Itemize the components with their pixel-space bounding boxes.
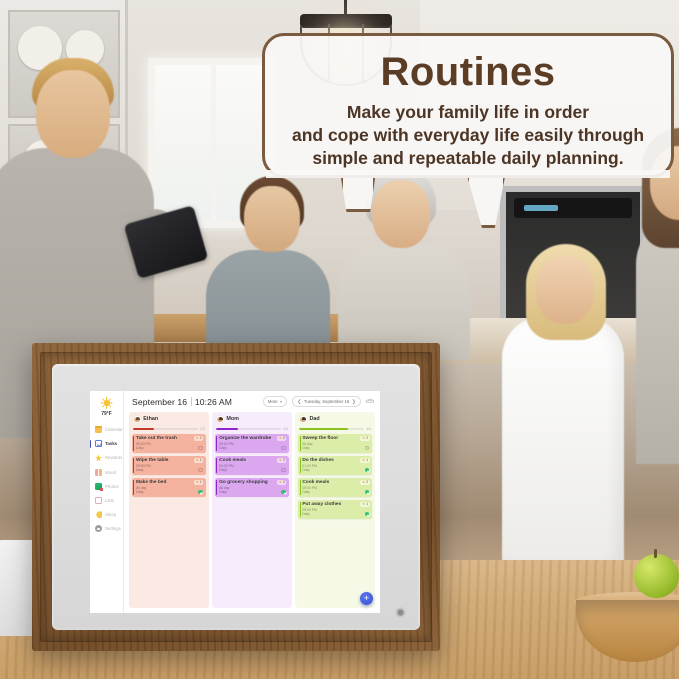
task-time: All day	[219, 486, 286, 490]
task-column-mom: Mom1/3Organize the wardrobe05:00 PMDaily…	[212, 412, 292, 608]
sidebar-item-tasks[interactable]: Tasks	[90, 438, 123, 450]
promo-title: Routines	[265, 50, 671, 95]
person-woman-head	[244, 186, 300, 252]
weather-temperature: 79°F	[90, 411, 123, 417]
task-star-count: 1	[366, 458, 368, 462]
progress-bar	[299, 428, 348, 430]
header-date: September 16	[132, 397, 187, 407]
star-icon: ★	[196, 437, 199, 441]
task-card[interactable]: Take out the trash05:00 PMDaily★1	[132, 434, 206, 453]
person-man-head	[36, 70, 110, 158]
task-time: All day	[302, 442, 369, 446]
more-label: More	[268, 399, 278, 404]
header-divider	[191, 397, 192, 406]
star-icon: ★	[279, 481, 282, 485]
task-checkbox-checked[interactable]	[365, 468, 369, 472]
app-header: September 16 10:26 AM More ❮ Tuesday, Se…	[124, 391, 380, 412]
task-star-badge: ★1	[194, 480, 203, 485]
task-accent-stripe	[300, 436, 301, 451]
star-icon: ★	[196, 459, 199, 463]
task-title: Take out the trash	[136, 436, 203, 441]
task-frequency: Daily	[302, 446, 369, 450]
task-accent-stripe	[216, 458, 217, 473]
column-header: Dad	[298, 416, 372, 424]
column-progress: 3/4	[298, 426, 372, 431]
person-girl-body	[502, 316, 624, 566]
task-title: Make the bed	[136, 480, 203, 485]
header-controls: More ❮ Tuesday, September 16 ❯	[263, 396, 374, 407]
task-star-count: 2	[283, 436, 285, 440]
sidebar-item-calendar[interactable]: Calendar	[90, 424, 123, 436]
task-title: Cook meals	[302, 480, 369, 485]
person-right-woman-body	[636, 214, 679, 464]
sidebar-item-sleep[interactable]: Sleep	[90, 509, 123, 521]
task-time: 05:00 PM	[136, 442, 203, 446]
rewards-star-icon	[95, 454, 102, 461]
star-icon: ★	[362, 459, 365, 463]
sidebar-item-settings[interactable]: Settings	[90, 523, 123, 535]
task-column-dad: Dad3/4Sweep the floorAll dayDaily★2Do th…	[295, 412, 375, 608]
column-member-name: Mom	[226, 416, 239, 422]
progress-track	[133, 428, 198, 430]
mood-icon	[95, 469, 102, 476]
speech-bubble-seam	[266, 170, 670, 178]
star-icon: ★	[279, 459, 282, 463]
task-card[interactable]: Sweep the floorAll dayDaily★2	[298, 434, 372, 453]
chevron-left-icon[interactable]: ❮	[297, 399, 301, 405]
progress-fraction: 1/3	[283, 427, 288, 431]
sidebar-item-label: Tasks	[105, 441, 117, 446]
task-accent-stripe	[300, 480, 301, 495]
task-accent-stripe	[133, 458, 134, 473]
wifi-icon[interactable]	[366, 399, 374, 405]
avatar-dad[interactable]	[299, 416, 307, 424]
task-accent-stripe	[300, 502, 301, 517]
promo-speech-bubble: Routines Make your family life in order …	[262, 33, 674, 178]
chevron-right-icon[interactable]: ❯	[352, 399, 356, 405]
star-icon: ★	[279, 437, 282, 441]
sidebar-item-rewards[interactable]: Rewards	[90, 452, 123, 464]
sidebar-item-label: Calendar	[105, 427, 123, 432]
column-progress: 1/3	[215, 426, 289, 431]
task-star-count: 1	[200, 480, 202, 484]
task-frequency: Daily	[302, 468, 369, 472]
task-star-count: 2	[283, 458, 285, 462]
selected-date-label: Tuesday, September 16	[304, 399, 349, 404]
task-time: 06:00 PM	[219, 464, 286, 468]
progress-bar	[133, 428, 154, 430]
task-accent-stripe	[133, 436, 134, 451]
sleep-moon-icon	[95, 511, 102, 518]
task-star-badge: ★2	[360, 436, 369, 441]
task-card[interactable]: Cook meals05:00 PMDaily★2	[298, 478, 372, 497]
header-datetime: September 16 10:26 AM	[132, 397, 232, 407]
task-time: 05:00 PM	[136, 464, 203, 468]
task-title: Organize the wardrobe	[219, 436, 286, 441]
tasks-icon	[95, 440, 102, 447]
column-member-name: Dad	[310, 416, 320, 422]
task-time: 01:00 PM	[302, 464, 369, 468]
task-star-count: 2	[366, 436, 368, 440]
more-dropdown[interactable]: More	[263, 396, 287, 406]
sidebar-item-label: Mood	[105, 470, 116, 475]
star-icon: ★	[362, 503, 365, 507]
progress-bar	[216, 428, 237, 430]
device-bezel: 79°F CalendarTasksRewardsMoodPhotosLists…	[52, 364, 420, 630]
date-navigator[interactable]: ❮ Tuesday, September 16 ❯	[292, 396, 361, 407]
promo-subtitle-line-3: simple and repeatable daily planning.	[271, 147, 665, 170]
task-time: 05:00 PM	[302, 486, 369, 490]
task-frequency: Daily	[219, 468, 286, 472]
sun-icon	[101, 397, 113, 409]
star-icon: ★	[362, 481, 365, 485]
column-progress: 1/3	[132, 426, 206, 431]
task-star-badge: ★1	[360, 502, 369, 507]
task-title: Go grocery shopping	[219, 480, 286, 485]
sidebar-item-photos[interactable]: Photos	[90, 480, 123, 492]
promo-subtitle: Make your family life in order and cope …	[265, 101, 671, 170]
task-title: Cook meals	[219, 458, 286, 463]
task-title: Do the dishes	[302, 458, 369, 463]
column-header: Mom	[215, 416, 289, 424]
task-star-count: 1	[366, 502, 368, 506]
wooden-photo-frame-device: 79°F CalendarTasksRewardsMoodPhotosLists…	[32, 343, 440, 651]
sidebar-item-label: Lists	[105, 498, 114, 503]
sidebar-item-mood[interactable]: Mood	[90, 466, 123, 478]
task-card[interactable]: Put away clothes09:00 PMDaily★1	[298, 500, 372, 519]
progress-fraction: 3/4	[366, 427, 371, 431]
weather-widget[interactable]: 79°F	[90, 395, 123, 421]
main-area: September 16 10:26 AM More ❮ Tuesday, Se…	[124, 391, 380, 613]
sidebar-item-lists[interactable]: Lists	[90, 494, 123, 506]
task-card[interactable]: Make the bedAll dayDaily★1	[132, 478, 206, 497]
task-accent-stripe	[300, 458, 301, 473]
task-card[interactable]: Do the dishes01:00 PMDaily★1	[298, 456, 372, 475]
task-title: Wipe the table	[136, 458, 203, 463]
task-star-count: 2	[283, 480, 285, 484]
task-star-badge: ★2	[277, 458, 286, 463]
task-time: All day	[136, 486, 203, 490]
task-frequency: Daily	[302, 490, 369, 494]
task-title: Put away clothes	[302, 502, 369, 507]
lists-icon	[95, 497, 102, 504]
progress-fraction: 1/3	[200, 427, 205, 431]
task-star-count: 1	[200, 458, 202, 462]
oven-control-panel	[514, 198, 632, 218]
speaker-icon	[395, 607, 406, 618]
green-apple	[634, 554, 679, 598]
task-time: 09:00 PM	[302, 508, 369, 512]
task-star-badge: ★2	[277, 436, 286, 441]
task-column-ethan: Ethan1/3Take out the trash05:00 PMDaily★…	[129, 412, 209, 608]
task-star-badge: ★2	[277, 480, 286, 485]
promo-subtitle-line-2: and cope with everyday life easily throu…	[271, 124, 665, 147]
star-icon: ★	[362, 437, 365, 441]
task-frequency: Daily	[136, 446, 203, 450]
task-frequency: Daily	[302, 512, 369, 516]
avatar-ethan[interactable]	[133, 416, 141, 424]
task-star-badge: ★2	[360, 480, 369, 485]
settings-gear-icon	[95, 525, 102, 532]
person-girl-head	[536, 256, 594, 324]
sidebar-item-label: Photos	[105, 484, 119, 489]
calendar-icon	[95, 426, 102, 433]
progress-track	[216, 428, 281, 430]
add-task-fab[interactable]: +	[360, 592, 373, 605]
task-star-badge: ★1	[194, 458, 203, 463]
task-star-badge: ★1	[194, 436, 203, 441]
header-time: 10:26 AM	[195, 397, 232, 407]
task-checkbox-checked[interactable]	[365, 512, 369, 516]
task-accent-stripe	[216, 480, 217, 495]
task-star-badge: ★1	[360, 458, 369, 463]
task-accent-stripe	[133, 480, 134, 495]
task-card[interactable]: Wipe the table05:00 PMDaily★1	[132, 456, 206, 475]
star-icon: ★	[196, 481, 199, 485]
task-frequency: Daily	[219, 446, 286, 450]
task-card[interactable]: Go grocery shoppingAll dayDaily★2	[215, 478, 289, 497]
task-accent-stripe	[216, 436, 217, 451]
avatar-mom[interactable]	[216, 416, 224, 424]
sidebar: 79°F CalendarTasksRewardsMoodPhotosLists…	[90, 391, 124, 613]
task-title: Sweep the floor	[302, 436, 369, 441]
task-checkbox-checked[interactable]	[281, 490, 285, 494]
task-frequency: Daily	[136, 490, 203, 494]
sidebar-item-label: Settings	[105, 526, 121, 531]
task-time: 05:00 PM	[219, 442, 286, 446]
column-member-name: Ethan	[143, 416, 158, 422]
promo-subtitle-line-1: Make your family life in order	[271, 101, 665, 124]
person-grandmother-head	[372, 180, 430, 248]
column-header: Ethan	[132, 416, 206, 424]
task-card[interactable]: Cook meals06:00 PMDaily★2	[215, 456, 289, 475]
sidebar-item-label: Sleep	[105, 512, 116, 517]
task-columns: Ethan1/3Take out the trash05:00 PMDaily★…	[124, 412, 380, 613]
task-checkbox-checked[interactable]	[198, 490, 202, 494]
task-frequency: Daily	[136, 468, 203, 472]
photos-icon	[95, 483, 102, 490]
task-star-count: 2	[366, 480, 368, 484]
sidebar-nav: CalendarTasksRewardsMoodPhotosListsSleep…	[90, 424, 123, 536]
task-frequency: Daily	[219, 490, 286, 494]
chevron-down-icon	[280, 401, 282, 403]
sidebar-item-label: Rewards	[105, 455, 122, 460]
task-card[interactable]: Organize the wardrobe05:00 PMDaily★2	[215, 434, 289, 453]
task-star-count: 1	[200, 436, 202, 440]
progress-track	[299, 428, 364, 430]
task-checkbox-checked[interactable]	[365, 490, 369, 494]
app-screen: 79°F CalendarTasksRewardsMoodPhotosLists…	[90, 391, 380, 613]
